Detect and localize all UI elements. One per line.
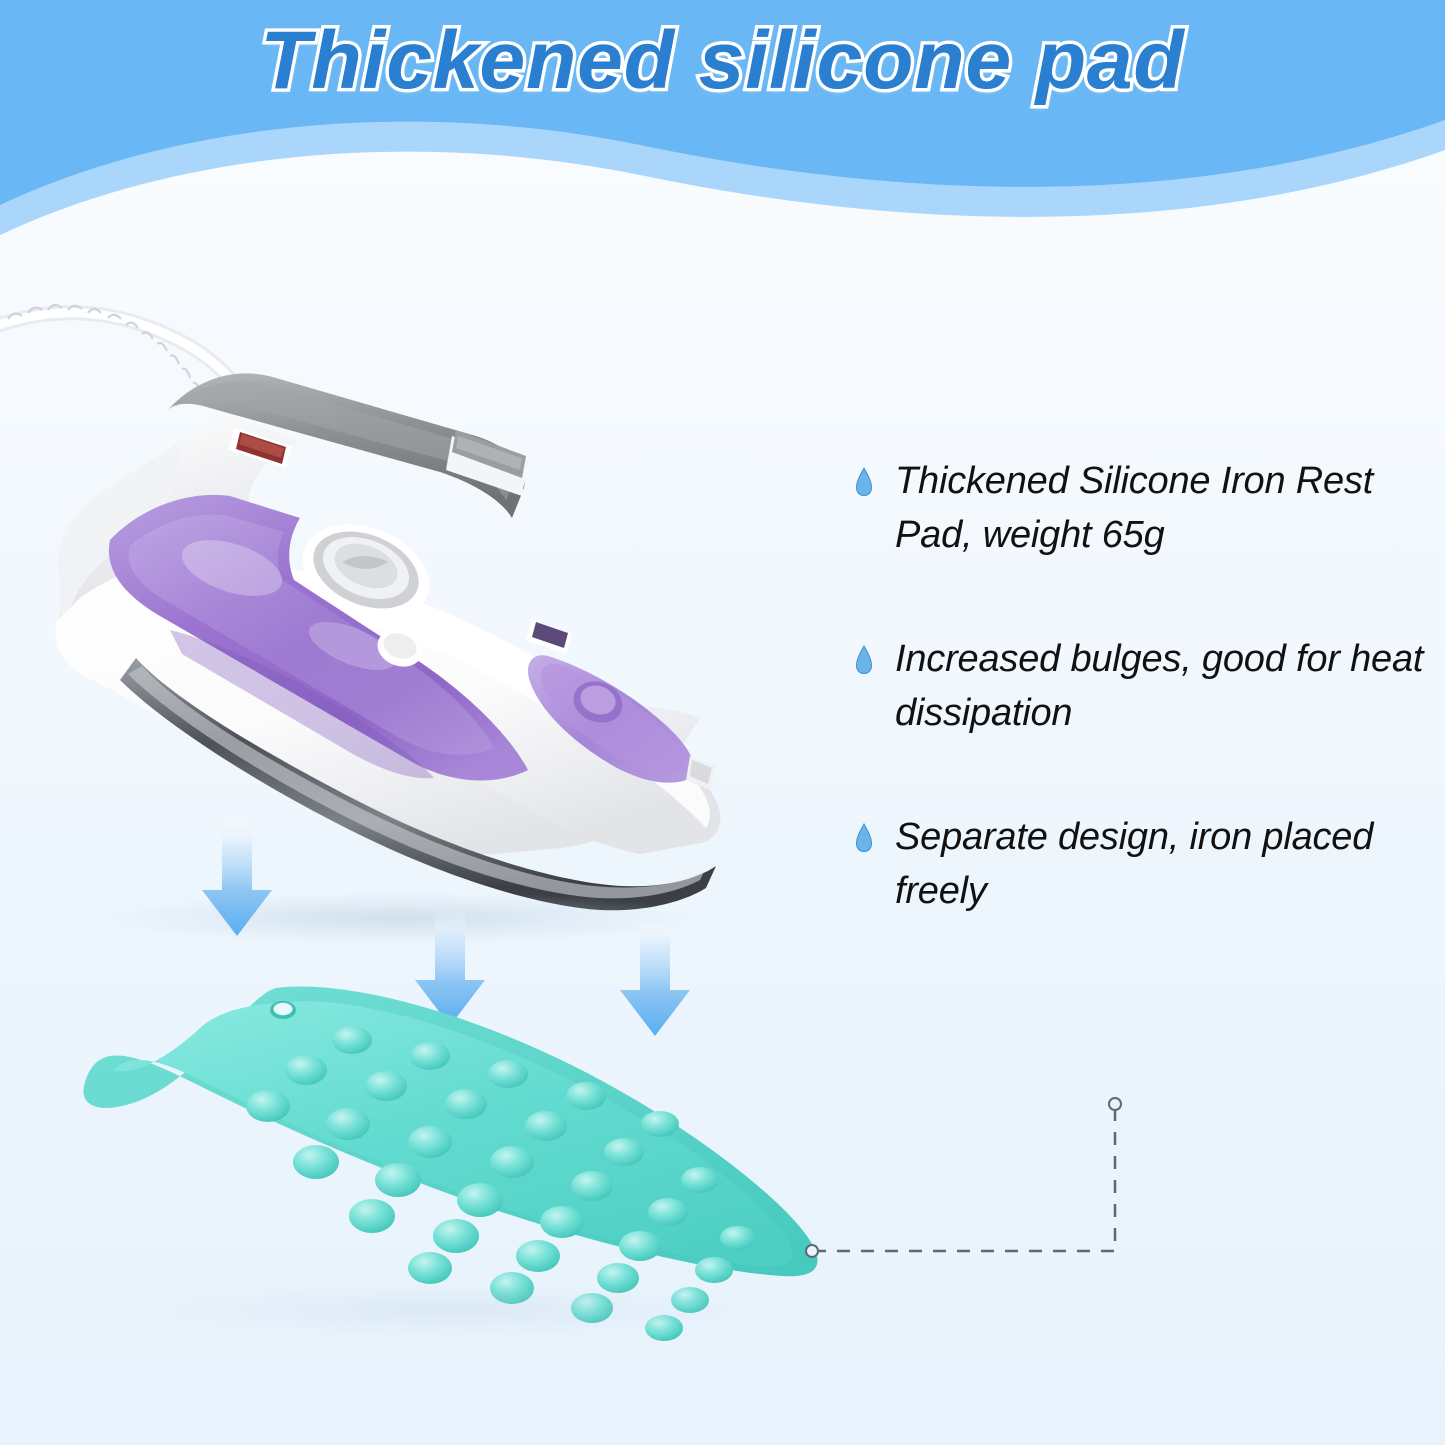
feature-text: Thickened Silicone Iron Rest Pad, weight… bbox=[895, 455, 1440, 563]
water-drop-bullet-icon bbox=[855, 645, 873, 675]
callout-dashed-path bbox=[813, 1105, 1115, 1251]
water-drop-bullet-icon bbox=[855, 823, 873, 853]
feature-text: Increased bulges, good for heat dissipat… bbox=[895, 633, 1440, 741]
feature-list: Thickened Silicone Iron Rest Pad, weight… bbox=[855, 455, 1440, 919]
water-drop-bullet-icon bbox=[855, 467, 873, 497]
page-title: Thickened silicone pad bbox=[0, 14, 1445, 108]
feature-item: Thickened Silicone Iron Rest Pad, weight… bbox=[855, 455, 1440, 563]
silicone-iron-rest-pad bbox=[83, 986, 817, 1341]
iron-shadow bbox=[100, 892, 700, 944]
callout-endpoint-start bbox=[806, 1245, 818, 1257]
feature-text: Separate design, iron placed freely bbox=[895, 811, 1440, 919]
dimension-callout-line bbox=[780, 1080, 1180, 1310]
infographic-canvas: Thickened silicone pad Thickened silicon… bbox=[0, 0, 1445, 1445]
callout-endpoint-end bbox=[1109, 1098, 1121, 1110]
pad-hanging-hole bbox=[270, 1001, 296, 1019]
downward-arrow-3 bbox=[620, 920, 690, 1036]
product-illustration bbox=[0, 250, 880, 1350]
header-banner: Thickened silicone pad Thickened silicon… bbox=[0, 0, 1445, 260]
feature-item: Increased bulges, good for heat dissipat… bbox=[855, 633, 1440, 741]
feature-item: Separate design, iron placed freely bbox=[855, 811, 1440, 919]
